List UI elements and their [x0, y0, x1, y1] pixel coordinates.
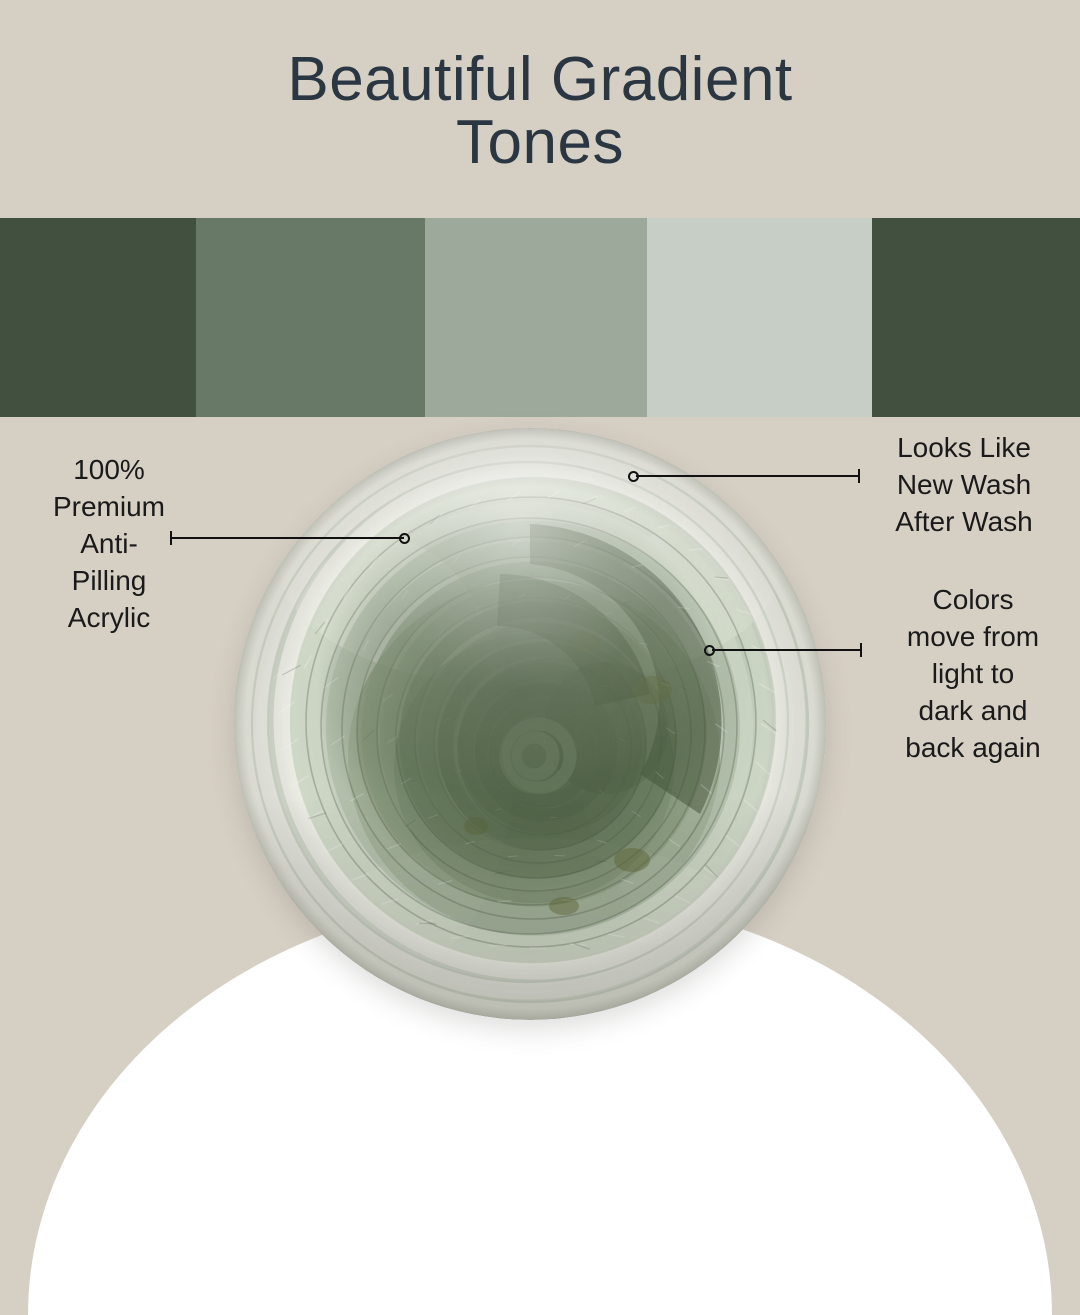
color-swatch-5 [872, 218, 1080, 417]
annotation-color-flow: Colors move from light to dark and back … [866, 582, 1080, 767]
leader-bar [712, 649, 860, 651]
leader-line-wash-durability [628, 467, 860, 485]
annotation-wash-durability: Looks Like New Wash After Wash [848, 430, 1080, 541]
color-palette-band [0, 218, 1080, 417]
annotation-material: 100% Premium Anti- Pilling Acrylic [0, 452, 218, 637]
leader-tick [860, 643, 862, 657]
color-swatch-4 [647, 218, 872, 417]
color-swatch-3 [425, 218, 647, 417]
color-swatch-2 [196, 218, 425, 417]
yarn-cake-image [234, 428, 826, 1020]
page-title: Beautiful Gradient Tones [0, 48, 1080, 174]
leader-dot [399, 533, 410, 544]
color-swatch-1 [0, 218, 196, 417]
leader-bar [636, 475, 858, 477]
leader-line-color-flow [704, 641, 862, 659]
poster-canvas: Beautiful Gradient Tones [0, 0, 1080, 1080]
